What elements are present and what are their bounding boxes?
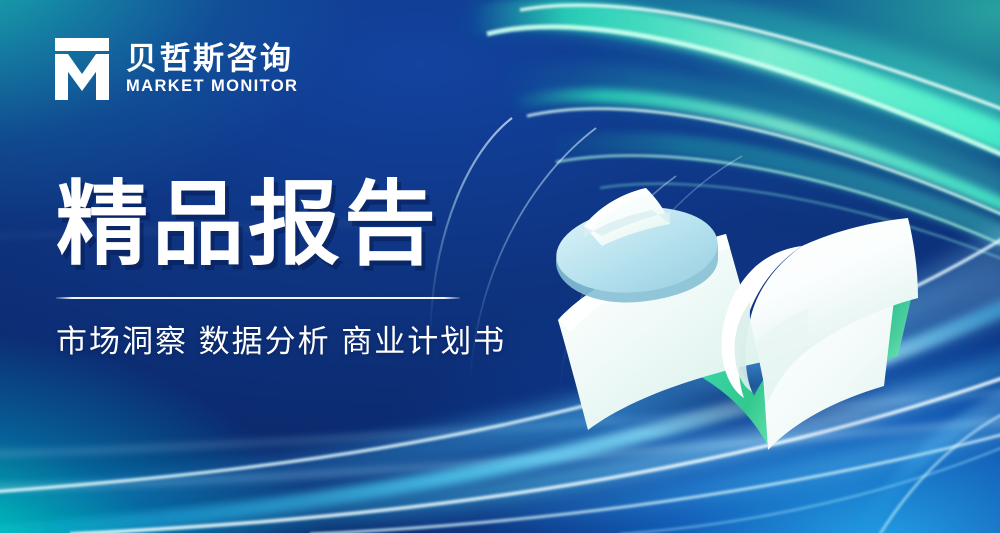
book-shadow [585, 358, 905, 442]
page-subtitle: 市场洞察 数据分析 商业计划书 [56, 323, 486, 360]
book-left-page [558, 234, 762, 430]
page-title: 精品报告 [56, 176, 486, 275]
pie-chart-slice [584, 188, 670, 246]
book-right-page [762, 300, 894, 450]
book-curling-page [722, 218, 918, 402]
company-name-cn: 贝哲斯咨询 [126, 43, 298, 76]
book-left-page-highlight [558, 234, 730, 332]
pie-chart-disc [552, 188, 722, 303]
company-name-en: MARKET MONITOR [126, 78, 298, 95]
brand-logo[interactable]: 贝哲斯咨询 MARKET MONITOR [52, 36, 298, 102]
title-divider [56, 297, 460, 299]
headline-group: 精品报告 市场洞察 数据分析 商业计划书 [56, 176, 486, 361]
open-book-with-pie-chart-illustration [540, 150, 940, 450]
book-page-edges [564, 262, 914, 446]
green-streak-group [455, 1, 1000, 262]
market-monitor-m-mark-icon [52, 36, 112, 102]
logo-text-group: 贝哲斯咨询 MARKET MONITOR [126, 43, 298, 96]
premium-report-banner: 贝哲斯咨询 MARKET MONITOR 精品报告 市场洞察 数据分析 商业计划… [0, 0, 1000, 533]
